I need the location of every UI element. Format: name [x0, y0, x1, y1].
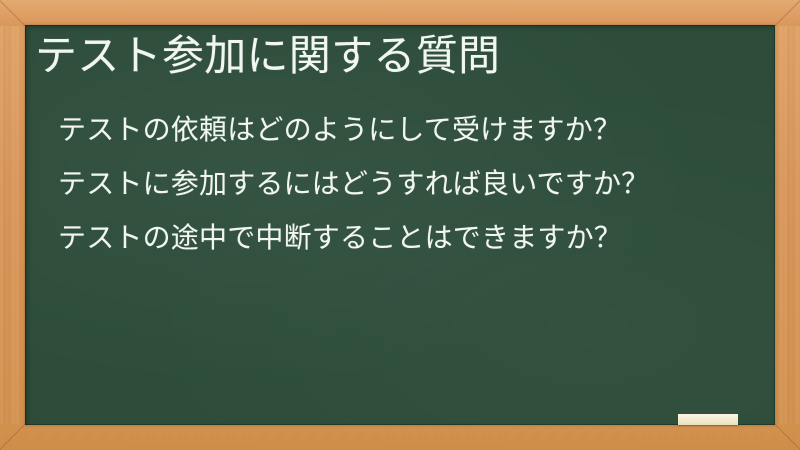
chalkboard-slide: テスト参加に関する質問 テストの依頼はどのようにして受けますか？ テストに参加す…: [0, 0, 800, 450]
frame-top-edge: [0, 0, 800, 26]
chalkboard-surface: テスト参加に関する質問 テストの依頼はどのようにして受けますか？ テストに参加す…: [25, 25, 775, 425]
question-list-item: テストに参加するにはどうすれば良いですか？: [58, 157, 649, 211]
frame-bottom-ledge: [0, 424, 800, 450]
question-list-item: テストの依頼はどのようにして受けますか？: [58, 103, 649, 157]
question-list: テストの依頼はどのようにして受けますか？ テストに参加するにはどうすれば良いです…: [58, 103, 649, 265]
chalk-stick: [678, 414, 738, 425]
question-list-item: テストの途中で中断することはできますか？: [58, 211, 649, 265]
slide-title: テスト参加に関する質問: [35, 30, 500, 83]
chalkboard-content: テスト参加に関する質問 テストの依頼はどのようにして受けますか？ テストに参加す…: [25, 25, 775, 425]
